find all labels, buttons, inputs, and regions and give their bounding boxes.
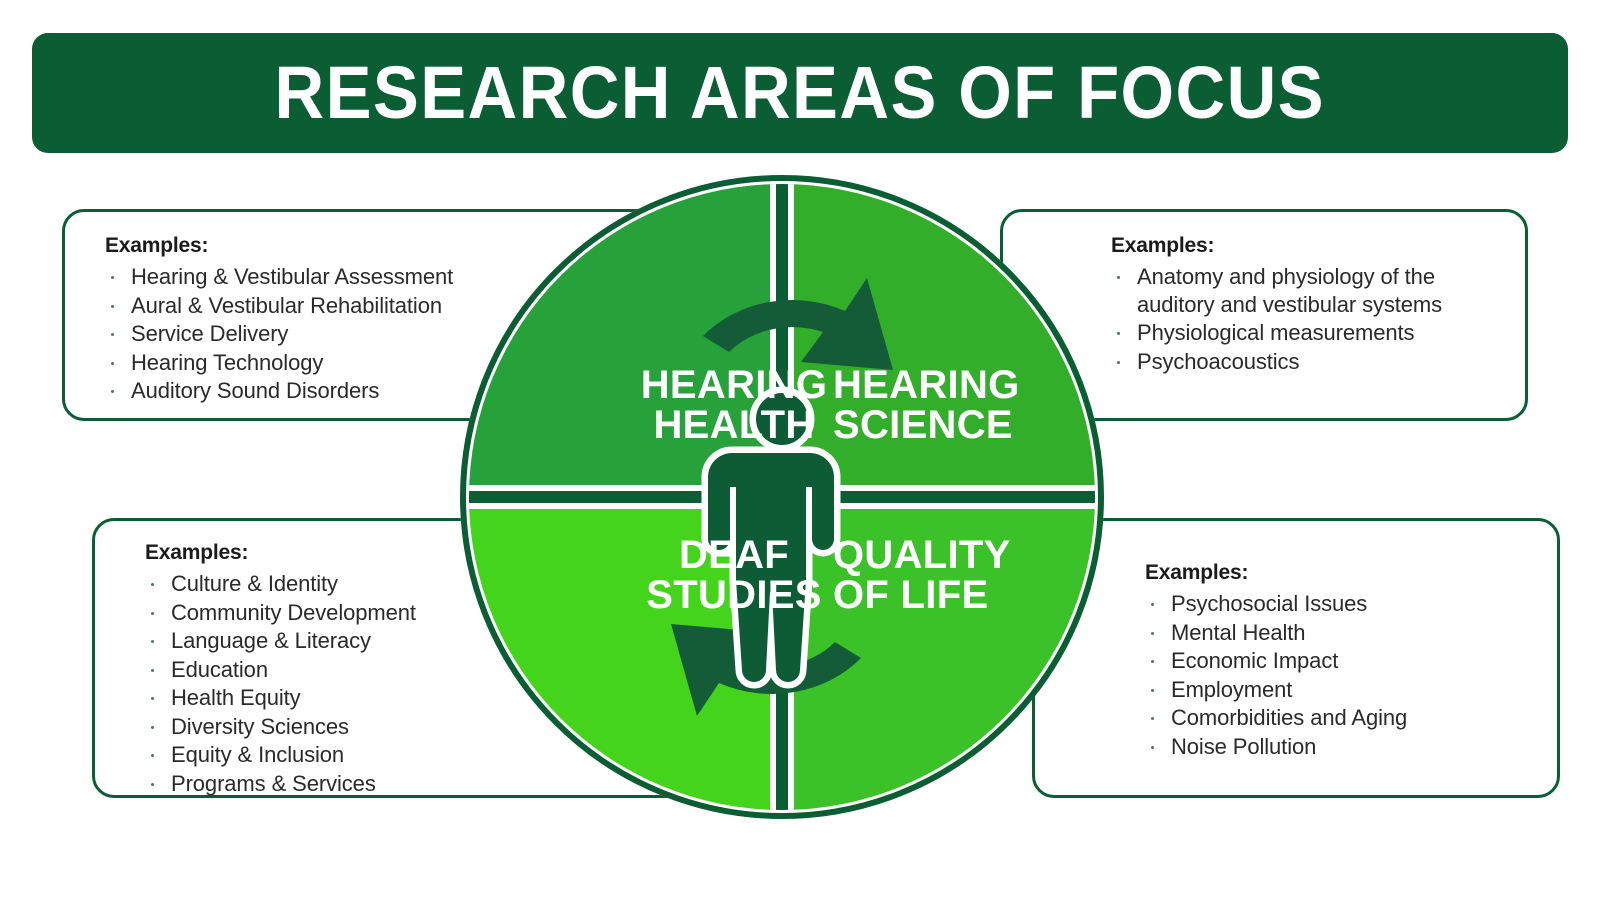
list-item: Mental Health [1145, 619, 1407, 647]
examples-list-deaf-studies: Culture & Identity Community Development… [145, 570, 416, 797]
examples-list-hearing-health: Hearing & Vestibular Assessment Aural & … [105, 263, 453, 405]
list-item: Equity & Inclusion [145, 741, 416, 769]
examples-content: Examples: Culture & Identity Community D… [145, 541, 416, 798]
quadrant-label-line1: DEAF [679, 533, 789, 577]
examples-content: Examples: Anatomy and physiology of the … [1111, 234, 1507, 376]
list-item: Service Delivery [105, 320, 453, 348]
list-item: Psychosocial Issues [1145, 590, 1407, 618]
list-item: Physiological measurements [1111, 319, 1507, 347]
list-item: Economic Impact [1145, 647, 1407, 675]
list-item: Programs & Services [145, 770, 416, 798]
list-item: Health Equity [145, 684, 416, 712]
list-item: Employment [1145, 676, 1407, 704]
quadrant-label-line1: HEARING [833, 363, 1020, 407]
examples-content: Examples: Hearing & Vestibular Assessmen… [105, 234, 453, 406]
list-item: Diversity Sciences [145, 713, 416, 741]
list-item: Anatomy and physiology of the auditory a… [1111, 263, 1507, 318]
examples-label: Examples: [145, 541, 416, 565]
list-item: Language & Literacy [145, 627, 416, 655]
quadrant-label-hearing-science: HEARING SCIENCE [833, 363, 1020, 447]
list-item: Community Development [145, 599, 416, 627]
list-item: Culture & Identity [145, 570, 416, 598]
list-item: Comorbidities and Aging [1145, 704, 1407, 732]
examples-label: Examples: [1111, 234, 1507, 258]
list-item: Noise Pollution [1145, 733, 1407, 761]
quadrant-label-line2: HEALTH [653, 403, 814, 447]
examples-box-quality-of-life: Examples: Psychosocial Issues Mental Hea… [1032, 518, 1560, 798]
examples-list-quality-of-life: Psychosocial Issues Mental Health Econom… [1145, 590, 1407, 760]
quadrant-label-line1: QUALITY [833, 533, 1011, 577]
quadrant-label-line1: HEARING [641, 363, 828, 407]
list-item: Auditory Sound Disorders [105, 377, 453, 405]
examples-content: Examples: Psychosocial Issues Mental Hea… [1145, 561, 1407, 761]
list-item: Hearing Technology [105, 349, 453, 377]
list-item: Psychoacoustics [1111, 348, 1507, 376]
list-item: Hearing & Vestibular Assessment [105, 263, 453, 291]
examples-label: Examples: [105, 234, 453, 258]
quadrant-label-hearing-health: HEARING HEALTH [641, 363, 828, 447]
quadrant-label-quality-of-life: QUALITY OF LIFE [833, 533, 1011, 617]
list-item: Aural & Vestibular Rehabilitation [105, 292, 453, 320]
quadrant-label-line2: OF LIFE [833, 573, 988, 617]
research-areas-circle-diagram: HEARING HEALTH HEARING SCIENCE DEAF STUD… [457, 172, 1107, 822]
page-title: RESEARCH AREAS OF FOCUS [275, 56, 1325, 130]
quadrant-label-line2: SCIENCE [833, 403, 1013, 447]
list-item: Education [145, 656, 416, 684]
examples-label: Examples: [1145, 561, 1407, 585]
header-banner: RESEARCH AREAS OF FOCUS [32, 33, 1568, 153]
quadrant-label-line2: STUDIES [646, 573, 821, 617]
examples-list-hearing-science: Anatomy and physiology of the auditory a… [1111, 263, 1507, 375]
